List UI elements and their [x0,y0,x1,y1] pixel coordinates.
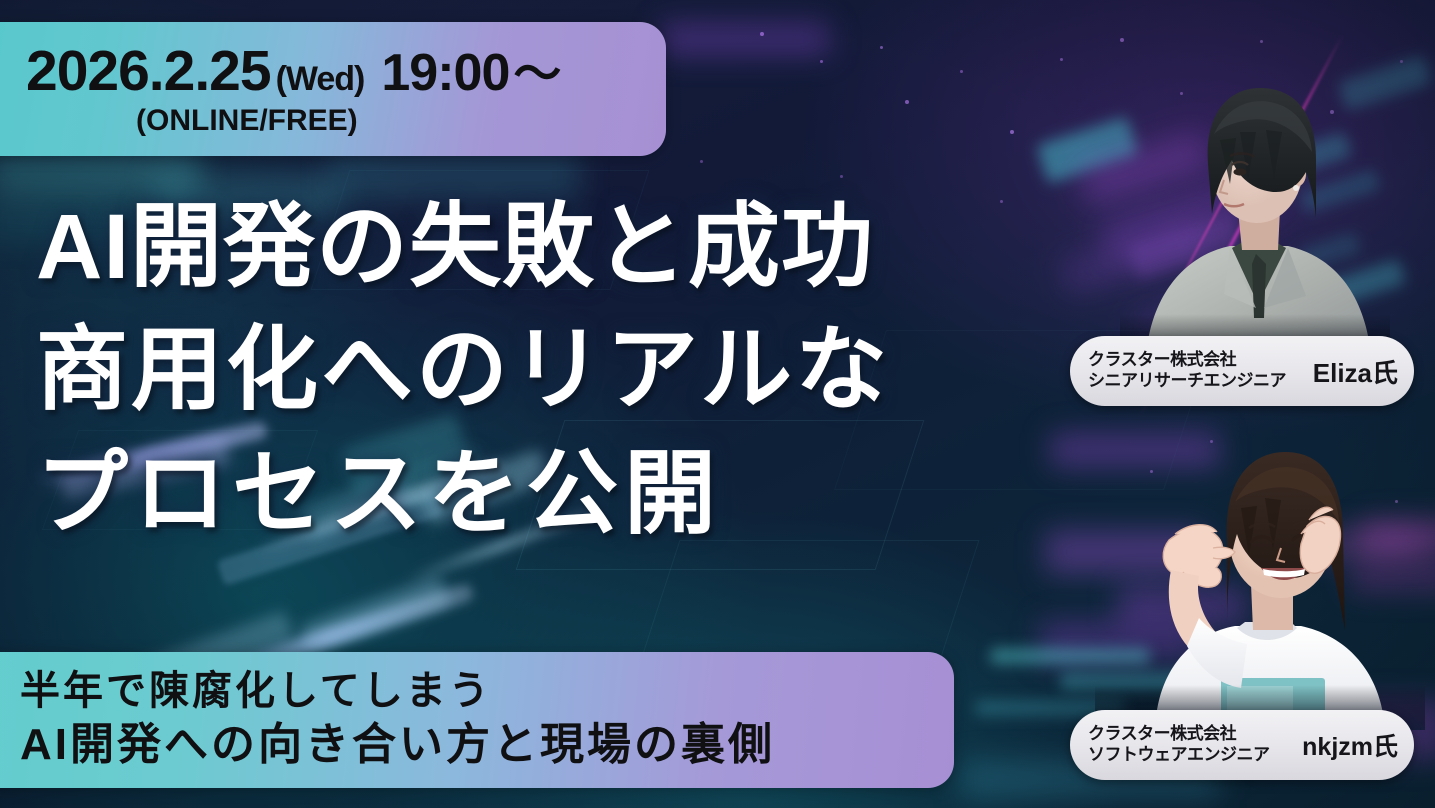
date-line: 2026.2.25 (Wed) 19:00 〜 [26,43,666,100]
title-line-2: 商用化へのリアルな [36,309,1046,432]
speaker-affiliation-1: クラスター株式会社 シニアリサーチエンジニア [1088,350,1286,391]
title-line-3: プロセスを公開 [36,433,1046,556]
speaker-role-2: ソフトウェアエンジニア [1088,745,1270,766]
event-day: (Wed) [273,62,365,96]
event-date: 2026.2.25 [26,43,271,100]
date-banner: 2026.2.25 (Wed) 19:00 〜 (ONLINE/FREE) [0,22,666,156]
time-tilde: 〜 [511,51,561,99]
speaker-role-1: シニアリサーチエンジニア [1088,371,1286,392]
subtitle-line-1: 半年で陳腐化してしまう [20,666,954,717]
speaker-name-plate-1: クラスター株式会社 シニアリサーチエンジニア Eliza氏 [1070,336,1414,406]
event-format: (ONLINE/FREE) [26,106,666,136]
subtitle-line-2: AI開発への向き合い方と現場の裏側 [20,717,954,773]
subtitle-banner: 半年で陳腐化してしまう AI開発への向き合い方と現場の裏側 [0,652,954,788]
speaker-photo-2 [1095,430,1425,730]
speaker-affiliation-2: クラスター株式会社 ソフトウェアエンジニア [1088,724,1270,765]
page-title: AI開発の失敗と成功 商用化へのリアルな プロセスを公開 [36,186,1046,556]
speaker-name-1: Eliza氏 [1305,353,1398,390]
speaker-photo-1 [1120,68,1390,368]
speaker-company-2: クラスター株式会社 [1088,724,1270,745]
event-time: 19:00 [366,47,509,99]
title-line-1: AI開発の失敗と成功 [36,186,1046,309]
speaker-name-plate-2: クラスター株式会社 ソフトウェアエンジニア nkjzm氏 [1070,710,1414,780]
event-banner: 2026.2.25 (Wed) 19:00 〜 (ONLINE/FREE) AI… [0,0,1435,808]
speaker-company-1: クラスター株式会社 [1088,350,1286,371]
speaker-name-2: nkjzm氏 [1294,727,1398,763]
portrait-suit-illustration [1120,68,1390,368]
portrait-tshirt-illustration [1095,430,1425,730]
